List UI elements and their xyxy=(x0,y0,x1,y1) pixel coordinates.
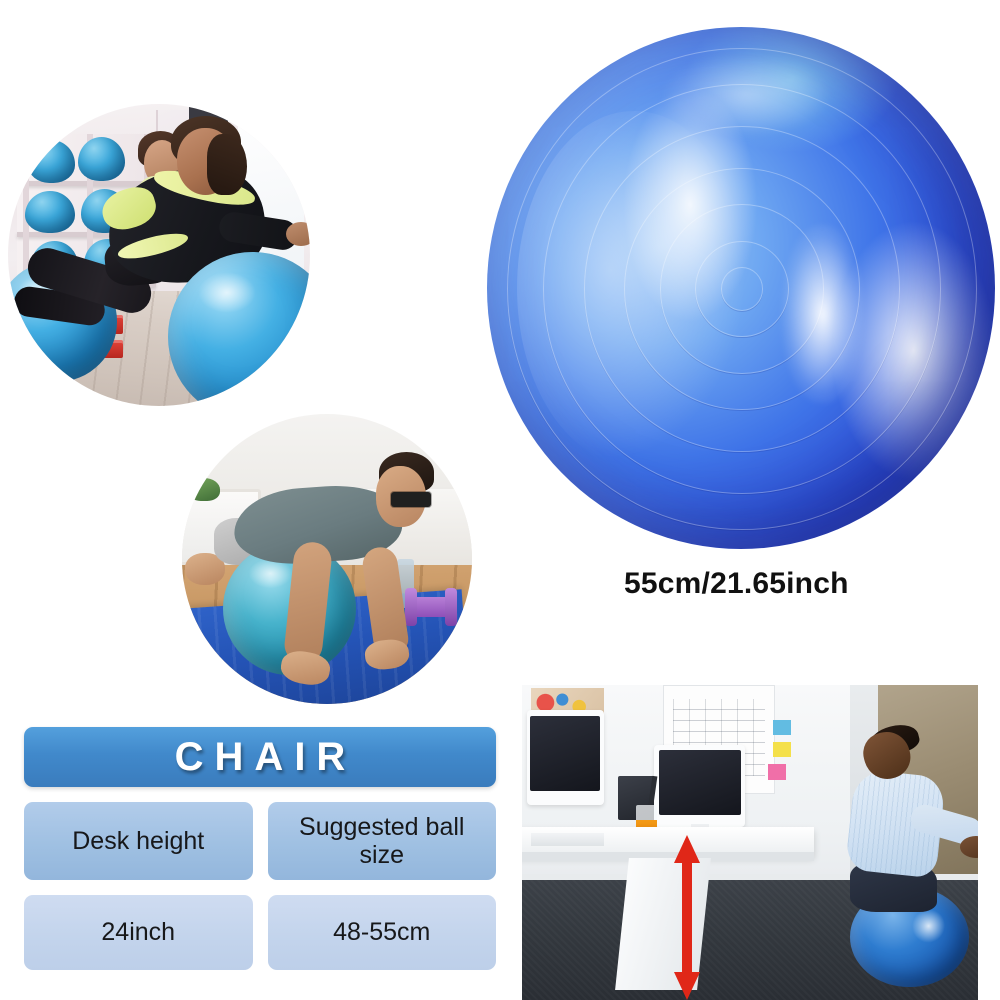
home-scene xyxy=(182,414,472,704)
table-header-row: Desk height Suggested ball size xyxy=(24,802,496,880)
ball-size-label: 55cm/21.65inch xyxy=(624,567,849,601)
woman-hair-side xyxy=(207,134,246,194)
gym-scene xyxy=(8,104,310,406)
plant xyxy=(188,478,220,501)
cell-suggested-ball-size-value: 48-55cm xyxy=(268,895,497,970)
monitor-screen xyxy=(659,750,741,816)
sticky-note xyxy=(773,720,791,736)
column-header-desk-height: Desk height xyxy=(24,802,253,880)
eyeglasses xyxy=(391,492,432,507)
double-headed-arrow-icon xyxy=(674,835,700,1000)
chair-table-title: CHAIR xyxy=(164,735,357,780)
product-infographic: 55cm/21.65inch CHAIR Desk height Suggest… xyxy=(0,0,1000,1000)
computer-monitor xyxy=(527,710,605,805)
cell-desk-height-value: 24inch xyxy=(24,895,253,970)
office-scene xyxy=(522,685,978,1000)
photo-office xyxy=(522,685,978,1000)
column-header-suggested-ball-size: Suggested ball size xyxy=(268,802,497,880)
monitor-screen xyxy=(530,716,600,792)
photo-gym xyxy=(8,104,310,406)
keyboard xyxy=(531,833,604,846)
sticky-note xyxy=(768,764,786,780)
ball-valve xyxy=(721,267,764,311)
photo-home xyxy=(182,414,472,704)
chair-size-table: CHAIR Desk height Suggested ball size 24… xyxy=(24,727,496,970)
main-product-ball xyxy=(487,27,995,549)
dumbbell xyxy=(408,597,454,617)
sticky-note xyxy=(773,742,791,758)
table-row: 24inch 48-55cm xyxy=(24,895,496,970)
computer-monitor xyxy=(654,745,745,827)
woman-hand xyxy=(286,222,310,246)
chair-table-header: CHAIR xyxy=(24,727,496,787)
